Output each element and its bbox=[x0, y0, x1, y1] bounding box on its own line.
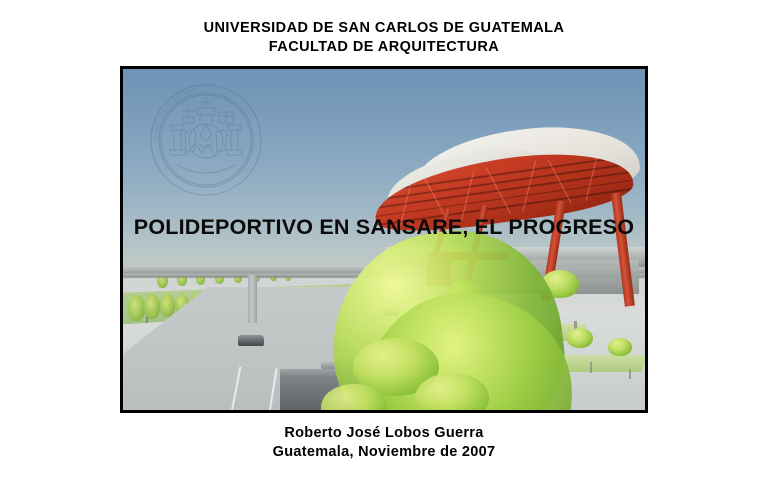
cover-render-frame: CAROLINA ACADEMIA bbox=[120, 66, 648, 413]
institution-header: UNIVERSIDAD DE SAN CARLOS DE GUATEMALA F… bbox=[204, 19, 565, 57]
architectural-render: CAROLINA ACADEMIA bbox=[123, 69, 645, 410]
plaza-tree bbox=[567, 328, 593, 348]
author-name: Roberto José Lobos Guerra bbox=[273, 424, 496, 443]
university-name: UNIVERSIDAD DE SAN CARLOS DE GUATEMALA bbox=[204, 19, 565, 38]
plaza-tree bbox=[608, 338, 632, 356]
usac-seal-icon: CAROLINA ACADEMIA bbox=[147, 81, 265, 199]
faculty-name: FACULTAD DE ARQUITECTURA bbox=[204, 38, 565, 57]
title-page: UNIVERSIDAD DE SAN CARLOS DE GUATEMALA F… bbox=[0, 0, 768, 501]
viaduct-pier bbox=[248, 275, 257, 323]
place-and-date: Guatemala, Noviembre de 2007 bbox=[273, 443, 496, 462]
tree-trunk bbox=[629, 369, 631, 379]
tree-trunk bbox=[590, 362, 592, 373]
lane-marking bbox=[269, 368, 277, 409]
vehicle-car bbox=[238, 335, 264, 346]
project-title: POLIDEPORTIVO EN SANSARE, EL PROGRESO bbox=[123, 217, 645, 239]
lane-marking bbox=[231, 366, 241, 410]
author-footer: Roberto José Lobos Guerra Guatemala, Nov… bbox=[273, 424, 496, 462]
